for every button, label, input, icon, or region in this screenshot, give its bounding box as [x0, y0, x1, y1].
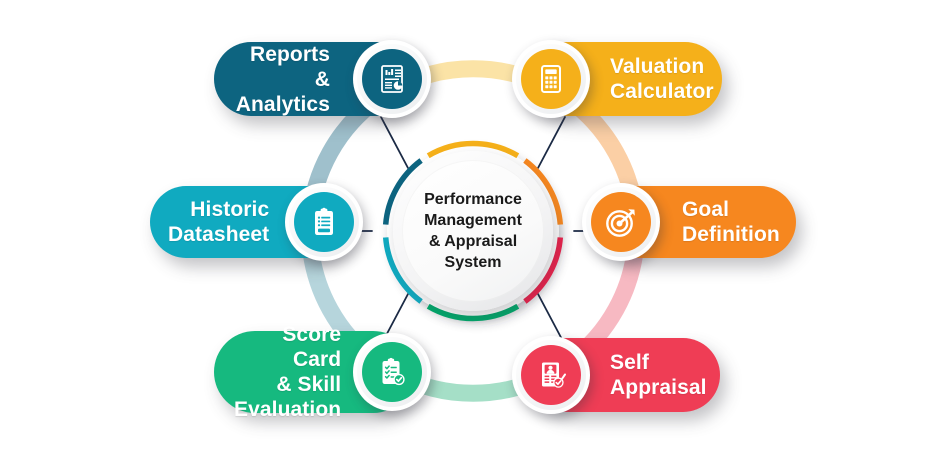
target-arrow-icon — [604, 205, 638, 239]
center-node: Performance Management & Appraisal Syste… — [366, 143, 580, 319]
calculator-icon — [535, 63, 567, 95]
clipboard-document-icon — [308, 206, 340, 238]
checklist-clipboard-check-icon — [376, 356, 408, 388]
node-label-score-card-skill-evaluation: Score Card & Skill Evaluation — [234, 322, 341, 422]
node-icon-goal-definition[interactable] — [582, 183, 660, 261]
node-icon-valuation-calculator[interactable] — [512, 40, 590, 118]
node-label-historic-datasheet: Historic Datasheet — [168, 197, 269, 247]
node-label-valuation-calculator: Valuation Calculator — [610, 54, 714, 104]
node-label-goal-definition: Goal Definition — [682, 197, 780, 247]
node-icon-score-card-skill-evaluation[interactable] — [353, 333, 431, 411]
infographic-canvas: Performance Management & Appraisal Syste… — [0, 0, 946, 464]
report-chart-document-icon — [376, 63, 408, 95]
node-icon-self-appraisal[interactable] — [512, 336, 590, 414]
node-label-reports-analytics: Reports & Analytics — [234, 42, 330, 117]
node-icon-historic-datasheet[interactable] — [285, 183, 363, 261]
appraisal-form-check-icon — [535, 359, 567, 391]
node-icon-reports-analytics[interactable] — [353, 40, 431, 118]
center-label: Performance Management & Appraisal Syste… — [402, 160, 544, 302]
node-label-self-appraisal: Self Appraisal — [610, 350, 707, 400]
